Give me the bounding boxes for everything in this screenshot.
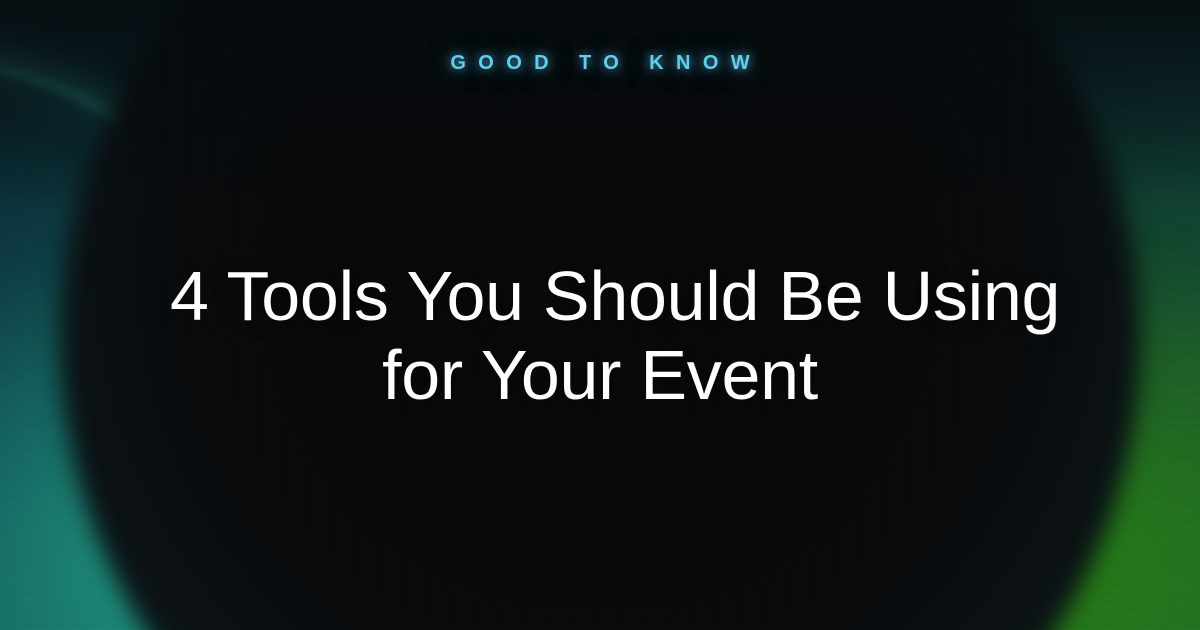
card-content: GOOD TO KNOW 4 Tools You Should Be Using… <box>0 0 1200 630</box>
social-share-card: GOOD TO KNOW 4 Tools You Should Be Using… <box>0 0 1200 630</box>
page-title: 4 Tools You Should Be Using for Your Eve… <box>170 257 1030 414</box>
eyebrow-label: GOOD TO KNOW <box>438 52 762 75</box>
headline-line-1: 4 Tools You Should Be Using <box>170 257 1030 335</box>
headline-line-2: for Your Event <box>170 336 1030 414</box>
headline-block: 4 Tools You Should Be Using for Your Eve… <box>0 75 1200 630</box>
